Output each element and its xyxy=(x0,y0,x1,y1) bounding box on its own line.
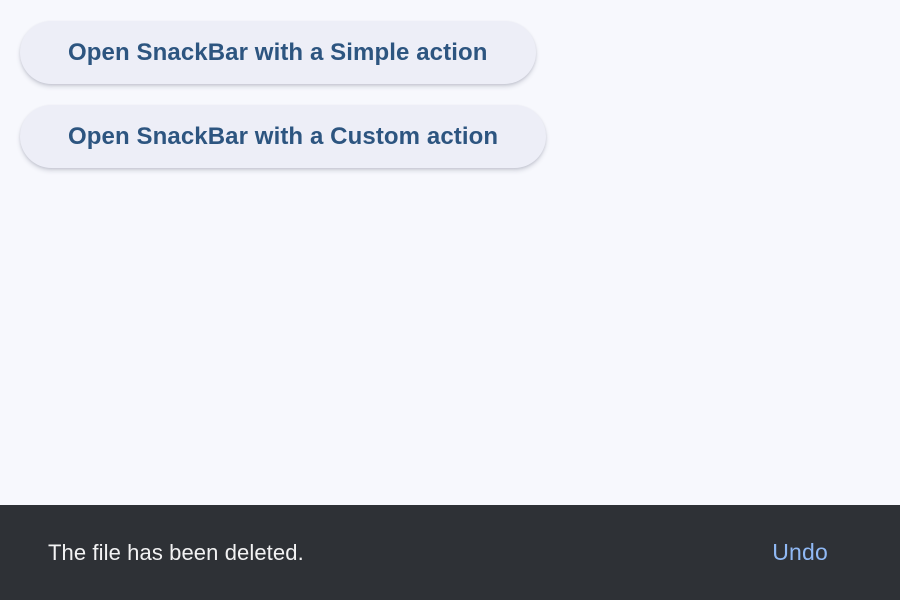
open-snackbar-simple-action-label: Open SnackBar with a Simple action xyxy=(68,39,488,67)
open-snackbar-custom-action-button[interactable]: Open SnackBar with a Custom action xyxy=(20,105,546,168)
open-snackbar-custom-action-label: Open SnackBar with a Custom action xyxy=(68,123,498,151)
app-root: Open SnackBar with a Simple action Open … xyxy=(0,0,900,600)
snackbar-message: The file has been deleted. xyxy=(48,540,304,566)
snackbar-undo-button[interactable]: Undo xyxy=(772,539,828,566)
open-snackbar-simple-action-button[interactable]: Open SnackBar with a Simple action xyxy=(20,21,536,84)
button-stack: Open SnackBar with a Simple action Open … xyxy=(20,21,546,168)
snackbar: The file has been deleted. Undo xyxy=(0,505,900,600)
